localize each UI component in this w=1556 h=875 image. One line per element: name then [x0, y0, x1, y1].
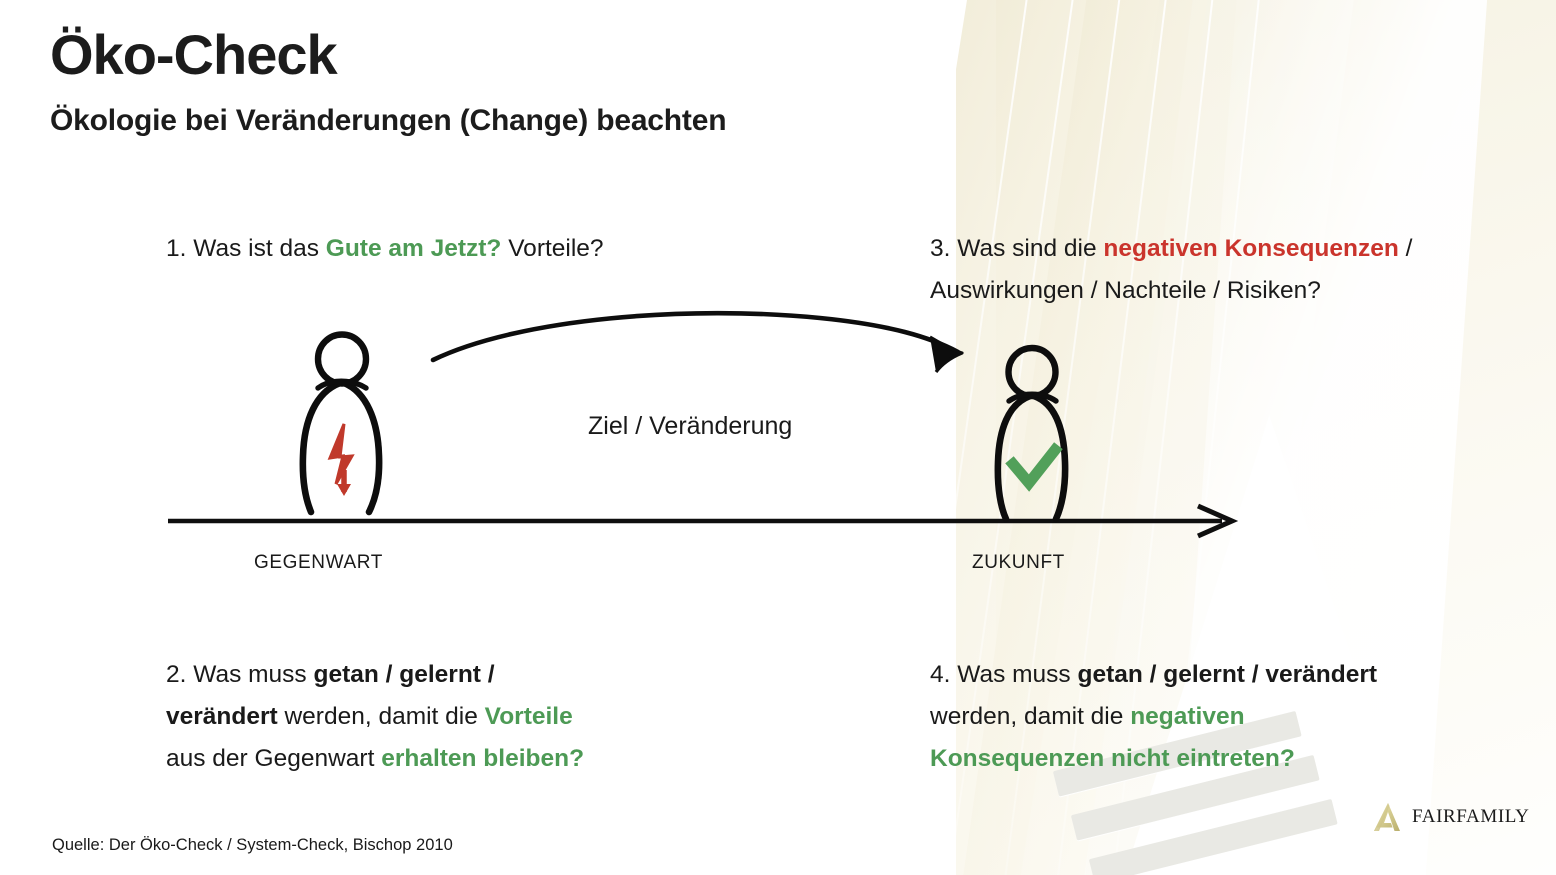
change-arrow-caption: Ziel / Veränderung [588, 412, 792, 441]
page-subtitle: Ökologie bei Veränderungen (Change) beac… [50, 104, 726, 138]
question-2: 2. Was muss getan / gelernt / verändert … [166, 654, 596, 780]
question-3-number: 3. [930, 235, 950, 262]
change-arrow-icon [433, 313, 962, 372]
question-4-text-2: werden, damit die [930, 703, 1130, 730]
question-2-number: 2. [166, 661, 186, 688]
question-4-text-1: Was muss [957, 661, 1077, 688]
stick-figure-present [303, 335, 379, 513]
question-4-bold: getan / gelernt / verändert [1078, 661, 1378, 688]
question-3: 3. Was sind die negativen Konsequenzen /… [930, 228, 1530, 312]
fairfamily-a-logo-icon [1373, 800, 1403, 834]
fairfamily-logo: FAIRFAMILY [1373, 800, 1529, 834]
background-bar-3 [1089, 799, 1338, 875]
check-mark-icon [1013, 450, 1055, 483]
question-3-highlight: negativen Konsequenzen [1103, 235, 1398, 262]
source-citation: Quelle: Der Öko-Check / System-Check, Bi… [52, 836, 453, 855]
lightning-bolt-icon [330, 424, 352, 496]
timeline-axis [168, 506, 1232, 536]
question-4: 4. Was muss getan / gelernt / verändert … [930, 654, 1380, 780]
question-4-number: 4. [930, 661, 950, 688]
question-1-number: 1. [166, 235, 186, 262]
question-2-highlight-2: erhalten bleiben? [381, 745, 584, 772]
question-1-text-1: Was ist das [193, 235, 326, 262]
question-3-text-1: Was sind die [957, 235, 1103, 262]
question-2-text-2: werden, damit die [278, 703, 485, 730]
question-1-text-2: Vorteile? [501, 235, 603, 262]
timeline-label-future: Zukunft [972, 544, 1065, 575]
question-1-highlight: Gute am Jetzt? [326, 235, 502, 262]
slide-oeko-check: Öko-Check Ökologie bei Veränderungen (Ch… [0, 0, 1556, 875]
page-title: Öko-Check [50, 26, 337, 83]
question-2-highlight-1: Vorteile [485, 703, 573, 730]
question-1: 1. Was ist das Gute am Jetzt? Vorteile? [166, 228, 786, 270]
question-2-text-1: Was muss [193, 661, 313, 688]
question-2-text-3: aus der Gegenwart [166, 745, 381, 772]
fairfamily-logo-text: FAIRFAMILY [1412, 806, 1529, 828]
stick-figure-future [998, 348, 1065, 519]
timeline-label-present: Gegenwart [254, 544, 383, 575]
